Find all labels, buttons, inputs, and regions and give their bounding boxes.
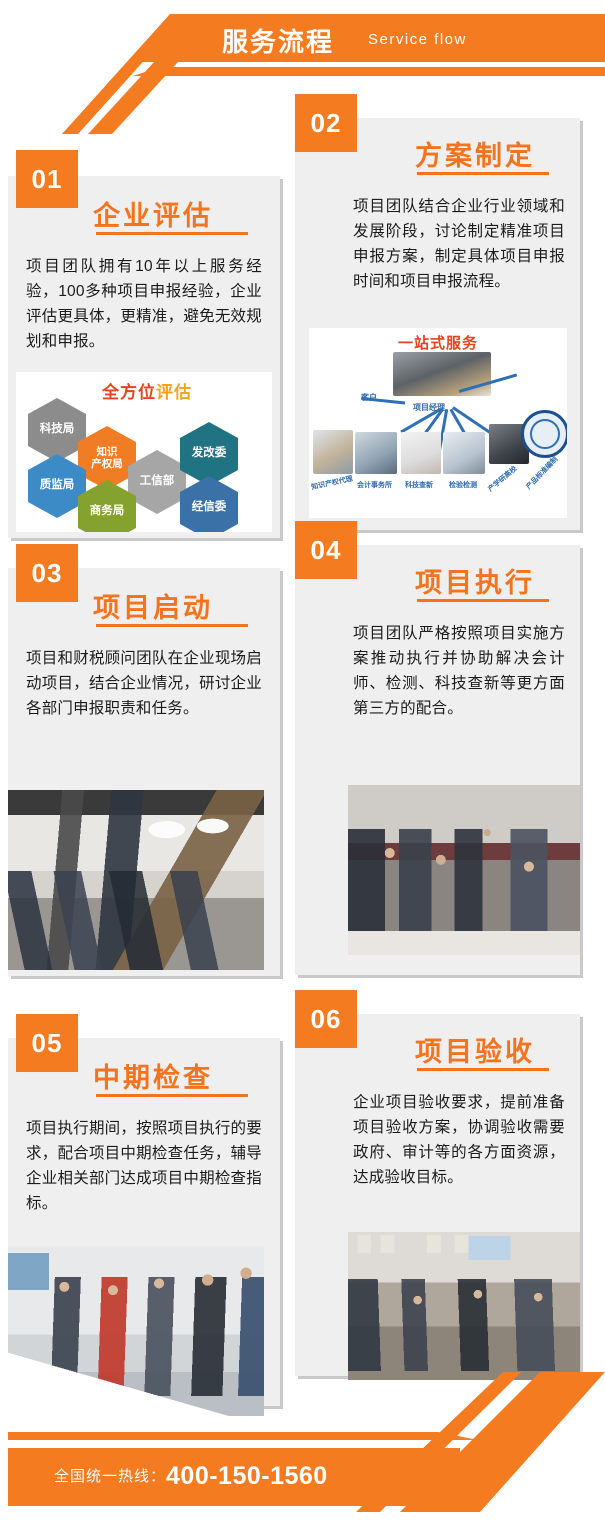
step-card-06: 06 项目验收 企业项目验收要求，提前准备项目验收方案，协调验收需要政府、审计等… [295,1014,580,1376]
step-title: 项目验收 [415,1030,535,1069]
step-description: 项目团队严格按照项目实施方案推动执行并协助解决会计师、检测、科技查新等更方面第三… [353,621,565,721]
step-card-05: 05 中期检查 项目执行期间，按照项目执行的要求，配合项目中期检查任务，辅导企业… [8,1038,280,1406]
service-label-3: 科技查新 [405,480,433,490]
step-number-badge: 02 [295,94,357,152]
one-stop-label-client: 客户 [361,392,377,403]
step-figure-photo [348,785,580,955]
title-underline [417,599,549,602]
one-stop-title: 一站式服务 [398,332,478,353]
hex-质监局: 质监局 [28,454,86,518]
step-description: 项目团队结合企业行业领域和发展阶段，讨论制定精准项目申报方案，制定具体项目申报时… [353,194,565,294]
step-title: 方案制定 [415,134,535,173]
header-stripe [0,67,605,76]
step-description: 项目执行期间，按照项目执行的要求，配合项目中期检查任务，辅导企业相关部门达成项目… [26,1116,262,1216]
step-number-badge: 01 [16,150,78,208]
hex-diagram: 全方位评估 科技局 知识产权局 质监局 工信部 商务局 发改委 经信委 [16,372,272,532]
hex-title-part2: 评估 [156,383,192,402]
service-photo-2 [355,432,397,474]
step-title: 项目启动 [93,586,213,625]
hex-diagram-title: 全方位评估 [102,378,192,403]
title-underline [96,232,248,235]
title-underline [96,1094,248,1097]
step-card-04: 04 项目执行 项目团队严格按照项目实施方案推动执行并协助解决会计师、检测、科技… [295,545,580,975]
service-label-1: 知识产权代理 [310,474,353,493]
service-photo-3 [401,432,441,474]
hex-科技局: 科技局 [28,398,86,462]
service-label-4: 检验检测 [449,480,477,490]
hex-工信部: 工信部 [128,450,186,514]
service-label-2: 会计事务所 [357,480,392,490]
step-title: 企业评估 [93,194,213,233]
step-number-badge: 05 [16,1014,78,1072]
hotline: 全国统一热线：400-150-1560 [54,1462,328,1491]
step-number-badge: 06 [295,990,357,1048]
step-figure-photo [8,1246,264,1416]
step-title: 中期检查 [93,1056,213,1095]
page-header: 服务流程 Service flow [0,14,605,76]
step-description: 项目和财税顾问团队在企业现场启动项目，结合企业情况，研讨企业各部门申报职责和任务… [26,646,262,721]
step-number-badge: 03 [16,544,78,602]
hotline-label: 全国统一热线： [54,1468,166,1485]
service-photo-4 [443,432,485,474]
one-stop-label-manager: 项目经理 [413,402,445,413]
page-title: 服务流程 [222,22,334,59]
page-subtitle: Service flow [368,31,467,48]
hex-title-part1: 全方位 [102,383,156,402]
iso-seal-icon [521,410,567,458]
title-underline [417,172,549,175]
service-label-6: 产品标准编制 [524,454,560,491]
title-underline [96,624,248,627]
step-description: 企业项目验收要求，提前准备项目验收方案，协调验收需要政府、审计等的各方面资源，达… [353,1090,565,1190]
hotline-number: 400-150-1560 [166,1462,328,1490]
one-stop-center-photo [393,352,491,396]
step-figure-photo [348,1232,580,1380]
page-footer: 全国统一热线：400-150-1560 [0,1432,605,1522]
step-card-03: 03 项目启动 项目和财税顾问团队在企业现场启动项目，结合企业情况，研讨企业各部… [8,568,280,976]
step-card-01: 01 企业评估 项目团队拥有10年以上服务经验，100多种项目申报经验，企业评估… [8,176,280,538]
hex-商务局: 商务局 [78,480,136,532]
step-number-badge: 04 [295,521,357,579]
title-underline [417,1068,549,1071]
service-label-5: 产学研高校 [486,464,519,494]
step-figure-one-stop: 一站式服务 客户 项目经理 知识产权代理 会计事务所 科技查新 检验检测 产学 [309,328,567,518]
service-photo-1 [313,430,353,474]
step-figure-photo [8,790,264,970]
step-card-02: 02 方案制定 项目团队结合企业行业领域和发展阶段，讨论制定精准项目申报方案，制… [295,118,580,530]
step-description: 项目团队拥有10年以上服务经验，100多种项目申报经验，企业评估更具体，更精准，… [26,254,262,354]
step-title: 项目执行 [415,561,535,600]
hex-经信委: 经信委 [180,476,238,532]
